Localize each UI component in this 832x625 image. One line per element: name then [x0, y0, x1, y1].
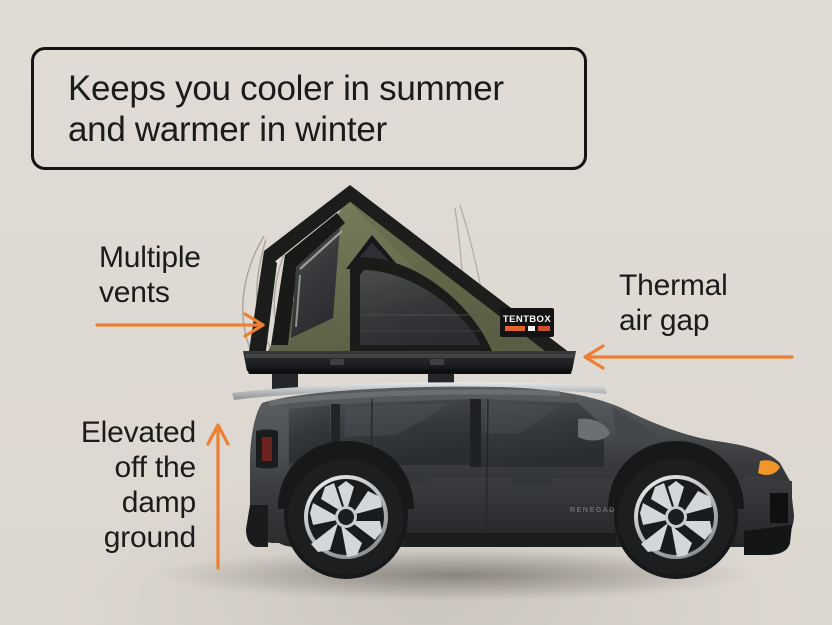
tent-base-lip — [247, 369, 572, 374]
tent-base-highlight — [245, 354, 575, 358]
vehicle-front-wheel — [614, 455, 738, 579]
vehicle-tail-light-lens — [262, 437, 272, 461]
tentbox-logo-text: TENTBOX — [503, 314, 551, 325]
vehicle-rear-wheel — [284, 455, 408, 579]
infographic-canvas: TENTBOX — [0, 0, 832, 625]
annotation-label-multiple-vents: Multiple vents — [99, 240, 201, 310]
vehicle-rear-bumper — [246, 505, 268, 547]
vehicle-b-pillar — [470, 399, 481, 467]
vehicle-door-handle-front — [512, 477, 552, 486]
headline-callout-box: Keeps you cooler in summer and warmer in… — [31, 47, 587, 170]
arrow-left-thermal-air-gap — [580, 344, 794, 370]
arrow-right-multiple-vents — [95, 312, 267, 338]
tent-base-latch-2 — [430, 359, 444, 365]
annotation-label-elevated-off-damp-ground: Elevated off the damp ground — [14, 415, 196, 555]
vehicle-side-skirt — [404, 533, 616, 547]
rooftop-tent: TENTBOX — [243, 185, 576, 374]
arrow-up-elevated-off-damp-ground — [205, 420, 231, 570]
tent-base-latch-1 — [330, 359, 344, 365]
headline-text: Keeps you cooler in summer and warmer in… — [34, 68, 504, 150]
tentbox-brand-badge: TENTBOX — [500, 308, 554, 337]
vehicle-front-grille-slot — [770, 493, 788, 523]
annotation-label-thermal-air-gap: Thermal air gap — [619, 268, 728, 338]
